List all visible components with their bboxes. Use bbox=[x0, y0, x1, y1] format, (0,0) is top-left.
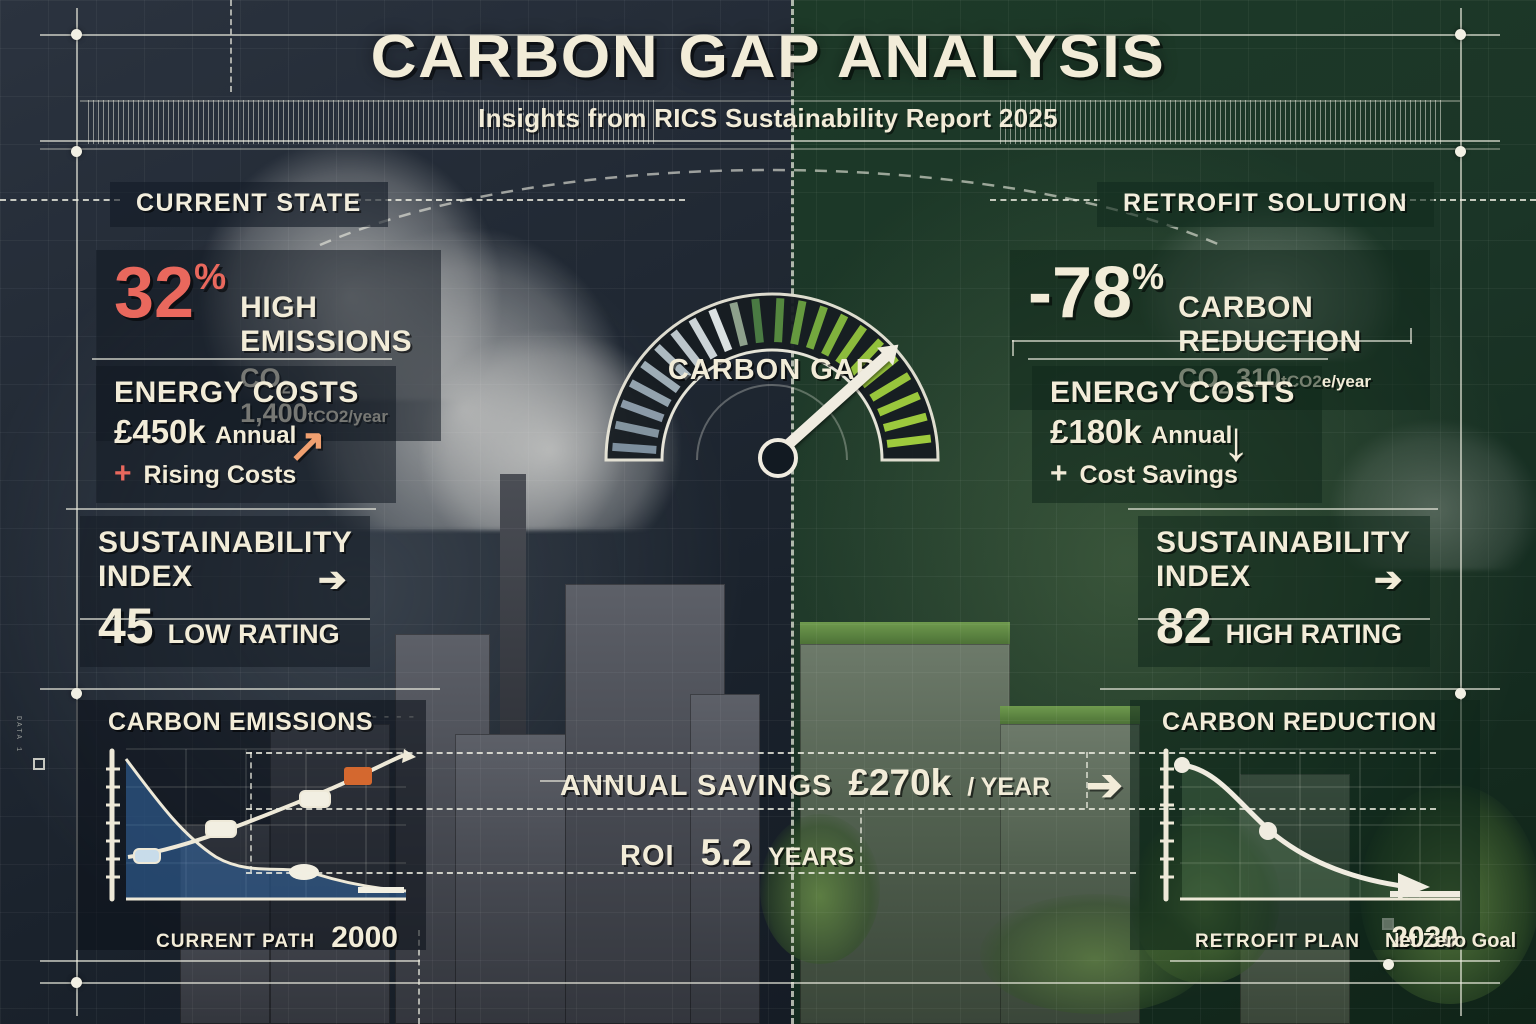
sustainability-title: SUSTAINABILITY INDEX bbox=[98, 526, 352, 594]
blueprint-micro-text: DATA 1 bbox=[14, 716, 22, 753]
blueprint-node bbox=[1455, 146, 1466, 157]
roi-row: ROI 5.2 YEARS bbox=[560, 826, 1130, 880]
roi-value: 5.2 bbox=[701, 832, 752, 874]
energy-costs-value-line: £180k Annual bbox=[1050, 413, 1304, 451]
percent-sign: % bbox=[1132, 256, 1164, 297]
rising-costs-arrow-icon: ↗ bbox=[288, 418, 327, 472]
blueprint-guide-line bbox=[80, 618, 370, 620]
chart-plot-area bbox=[1140, 739, 1470, 914]
annual-savings-row: ANNUAL SAVINGS £270k / YEAR bbox=[560, 756, 1130, 810]
energy-costs-trend: Rising Costs bbox=[144, 461, 297, 490]
blueprint-guide-line bbox=[1410, 328, 1412, 344]
blueprint-guide-line bbox=[66, 508, 376, 510]
stat-card-energy-costs-retrofit: ENERGY COSTS £180k Annual + Cost Savings bbox=[1032, 366, 1322, 503]
plus-icon: + bbox=[1050, 457, 1068, 491]
percent-sign: % bbox=[194, 256, 226, 297]
energy-costs-suffix: Annual bbox=[215, 422, 296, 449]
sustainability-score: 82 bbox=[1156, 597, 1212, 655]
reduction-percent-number: -78 bbox=[1028, 253, 1132, 333]
chart-year-label: 2000 bbox=[331, 921, 398, 955]
sustainability-score: 45 bbox=[98, 597, 154, 655]
reduction-percent-value: -78% bbox=[1028, 260, 1164, 326]
annual-savings-unit: / YEAR bbox=[967, 773, 1050, 802]
roi-unit: YEARS bbox=[768, 843, 854, 872]
chart-axis-label: CURRENT PATH bbox=[156, 931, 315, 953]
blueprint-guide-line bbox=[1128, 508, 1438, 510]
blueprint-guide-line bbox=[40, 960, 420, 962]
sustainability-arrow-icon: ➔ bbox=[318, 560, 347, 600]
blueprint-guide-line bbox=[92, 358, 392, 360]
metric-band-top-border bbox=[246, 752, 1436, 754]
energy-costs-value: £450k bbox=[114, 413, 206, 450]
center-metrics: ANNUAL SAVINGS £270k / YEAR ROI 5.2 YEAR… bbox=[560, 756, 1130, 880]
page-subtitle: Insights from RICS Sustainability Report… bbox=[0, 103, 1536, 134]
blueprint-guide-line bbox=[40, 982, 1500, 984]
chart-carbon-reduction: CARBON REDUCTION bbox=[1130, 700, 1480, 950]
emissions-percent-number: 32 bbox=[114, 253, 194, 333]
sustainability-rating: LOW RATING bbox=[168, 619, 340, 650]
sustainability-rating: HIGH RATING bbox=[1226, 619, 1403, 650]
emissions-label: HIGH EMISSIONS bbox=[240, 291, 423, 359]
roi-caption: ROI bbox=[620, 840, 675, 873]
reduction-label: CARBON REDUCTION bbox=[1178, 291, 1412, 359]
blueprint-node bbox=[71, 977, 82, 988]
plus-icon: + bbox=[114, 457, 132, 491]
section-tag-retrofit-solution: RETROFIT SOLUTION bbox=[1097, 182, 1434, 227]
blueprint-node bbox=[1455, 688, 1466, 699]
annual-savings-caption: ANNUAL SAVINGS bbox=[560, 770, 832, 803]
energy-costs-title: ENERGY COSTS bbox=[1050, 376, 1304, 410]
sustainability-arrow-icon: ➔ bbox=[1374, 560, 1403, 600]
blueprint-guide-line bbox=[1028, 358, 1328, 360]
factory-chimney bbox=[500, 474, 526, 774]
blueprint-dashed-line bbox=[0, 199, 120, 201]
stat-card-energy-costs-current: ENERGY COSTS £450k Annual + Rising Costs bbox=[96, 366, 396, 503]
chart-title: CARBON REDUCTION bbox=[1162, 708, 1470, 737]
page-title: CARBON GAP ANALYSIS bbox=[0, 22, 1536, 91]
energy-costs-value: £180k bbox=[1050, 413, 1142, 450]
blueprint-guide-line bbox=[1100, 688, 1500, 690]
carbon-gap-gauge: CARBON GAP bbox=[592, 248, 952, 478]
blueprint-node bbox=[71, 688, 82, 699]
blueprint-corner-marker bbox=[33, 758, 45, 770]
blueprint-guide-line bbox=[1012, 340, 1412, 342]
metric-band-divider bbox=[250, 752, 252, 872]
energy-costs-suffix: Annual bbox=[1151, 422, 1232, 449]
annual-savings-value: £270k bbox=[848, 762, 951, 804]
infographic-canvas: DATA 1 ▬ ▬ ▬ ▬ CARBON GAP ANALYSIS Insig… bbox=[0, 0, 1536, 1024]
chart-title: CARBON EMISSIONS bbox=[108, 708, 416, 737]
cost-savings-arrow-icon: ↓ bbox=[1222, 408, 1250, 473]
net-zero-goal-label: Net Zero Goal bbox=[1385, 930, 1516, 953]
section-tag-current-state: CURRENT STATE bbox=[110, 182, 388, 227]
energy-costs-title: ENERGY COSTS bbox=[114, 376, 378, 410]
energy-costs-trend: Cost Savings bbox=[1080, 461, 1238, 490]
blueprint-node bbox=[71, 146, 82, 157]
energy-costs-value-line: £450k Annual bbox=[114, 413, 378, 451]
blueprint-guide-line bbox=[40, 688, 440, 690]
green-roof bbox=[1000, 706, 1140, 724]
annual-savings-arrow-icon: ➔ bbox=[1086, 760, 1123, 811]
emissions-percent-value: 32% bbox=[114, 260, 226, 326]
blueprint-guide-line bbox=[1138, 618, 1430, 620]
green-roof bbox=[800, 622, 1010, 644]
blueprint-guide-line bbox=[1170, 960, 1500, 962]
blueprint-guide-line bbox=[1012, 340, 1014, 356]
gauge-hub bbox=[758, 438, 798, 478]
chart-axis-label: RETROFIT PLAN bbox=[1195, 931, 1360, 953]
